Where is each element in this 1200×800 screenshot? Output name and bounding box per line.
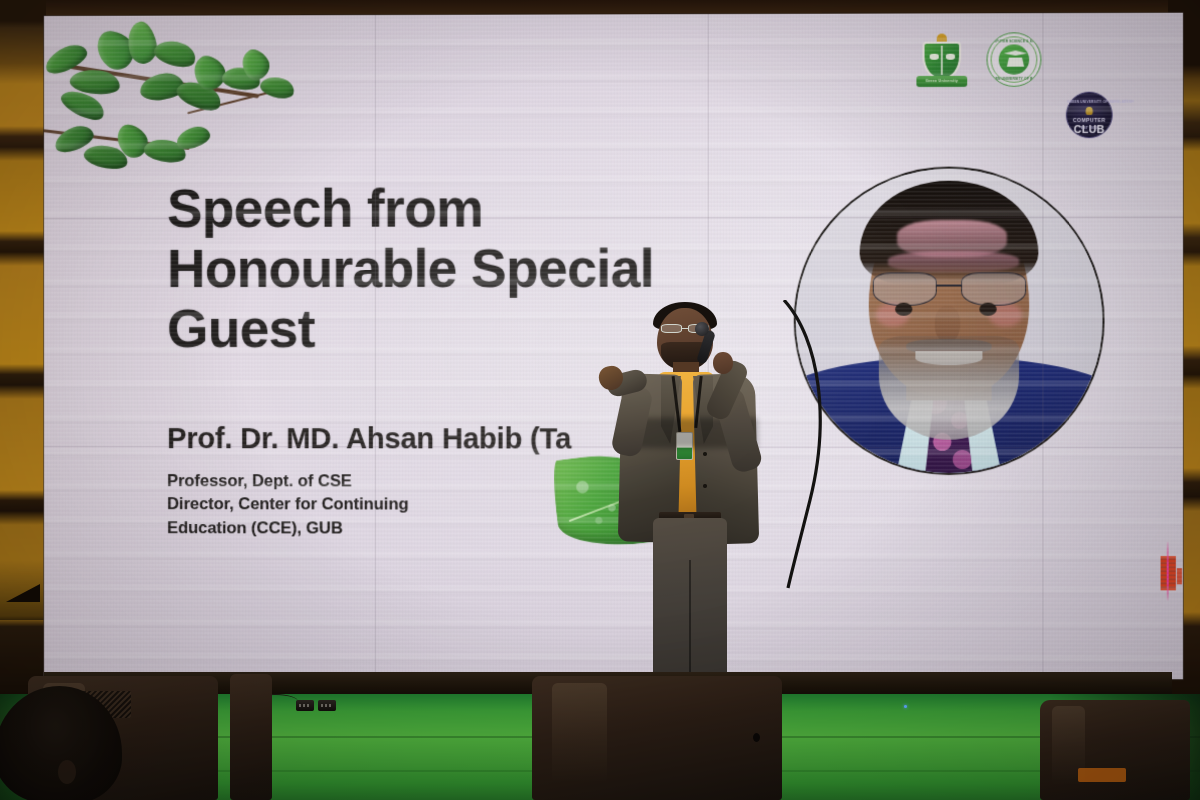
- microphone-head: [695, 322, 709, 336]
- stage-wedge-monitor-right: [1040, 700, 1190, 800]
- speaker-lens-left: [661, 324, 682, 333]
- monitor-sheen: [552, 683, 607, 782]
- speaker-trousers: [653, 518, 727, 694]
- stage-equipment-strip: [1078, 768, 1126, 782]
- equipment-led-indicator: [904, 705, 907, 708]
- speaker-hand-right: [713, 352, 733, 374]
- stage-wedge-monitor-left-side: [230, 674, 272, 800]
- stage-photo-scene: Speech from Honourable Special Guest Pro…: [0, 0, 1200, 800]
- speaker-jacket-button: [703, 452, 707, 456]
- microphone-cable: [770, 300, 840, 590]
- on-stage-speaker: [595, 300, 795, 700]
- stage-wedge-monitor-center: [532, 676, 782, 800]
- audience-member-ear: [58, 760, 76, 784]
- stage-cable-box: [318, 700, 336, 711]
- stage-cable-box: [296, 700, 314, 711]
- speaker-glasses-bridge: [682, 328, 688, 329]
- speaker-jacket-button: [703, 484, 707, 488]
- monitor-port: [753, 733, 760, 742]
